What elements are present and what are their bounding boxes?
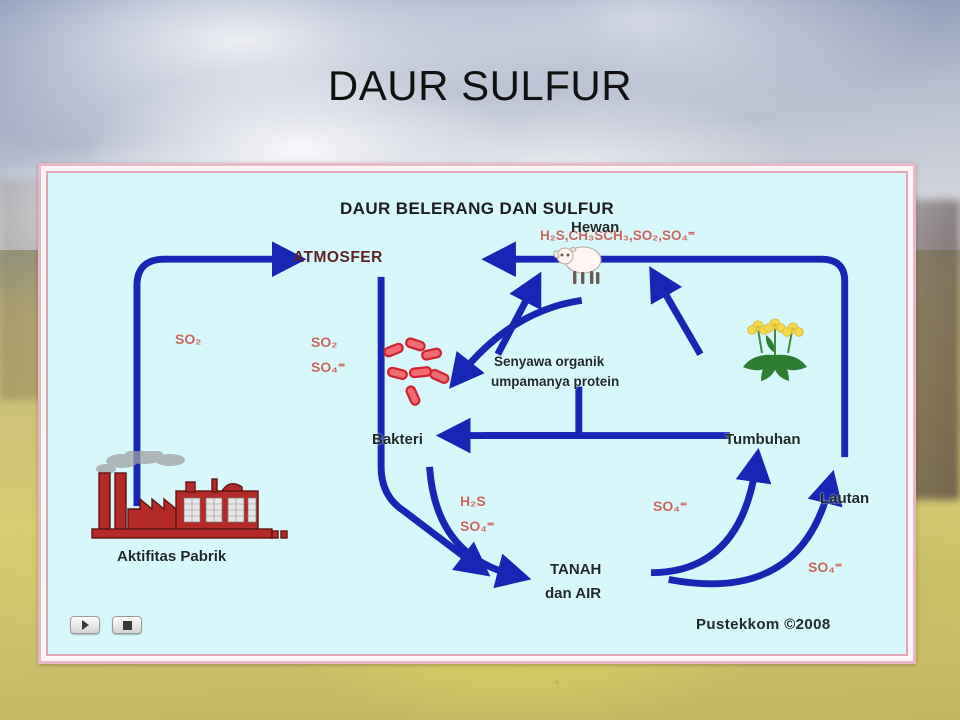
stop-button[interactable]: [112, 616, 142, 634]
node-senyawa-organik-line2: umpamanya protein: [491, 374, 619, 389]
chem-factory-so2: SO₂: [175, 331, 201, 347]
diagram-canvas: DAUR BELERANG DAN SULFUR: [46, 171, 908, 656]
chem-bacteria-so4: SO₄⁼: [311, 359, 345, 376]
node-bakteri: Bakteri: [372, 431, 423, 448]
play-button[interactable]: [70, 616, 100, 634]
chem-ocean-so4-low: SO₄⁼: [808, 559, 842, 576]
arrow-layer: [48, 173, 906, 654]
chem-soil-so4: SO₄⁼: [460, 518, 494, 535]
slide-title: DAUR SULFUR: [0, 62, 960, 110]
bacteria-illustration: [378, 336, 458, 414]
node-lautan: Lautan: [820, 490, 869, 507]
stop-icon: [123, 621, 132, 630]
sheep-illustration: [551, 239, 609, 289]
node-aktifitas-pabrik: Aktifitas Pabrik: [117, 548, 226, 565]
node-tanah-line1: TANAH: [550, 561, 601, 578]
credit-text: Pustekkom ©2008: [696, 616, 831, 633]
node-tumbuhan: Tumbuhan: [725, 431, 801, 448]
chem-ocean-so4-mid: SO₄⁼: [653, 498, 687, 515]
node-atmosfer: ATMOSFER: [293, 249, 383, 267]
node-senyawa-organik-line1: Senyawa organik: [494, 354, 604, 369]
play-icon: [82, 620, 89, 630]
chem-soil-h2s: H₂S: [460, 493, 486, 509]
node-tanah-line2: dan AIR: [545, 585, 601, 602]
factory-illustration: [82, 451, 297, 546]
diagram-frame: DAUR BELERANG DAN SULFUR: [38, 163, 916, 664]
arrow-soil-to-tumbuhan: [651, 467, 756, 573]
arrow-plant-to-hewan: [659, 283, 701, 355]
node-hewan: Hewan: [571, 219, 619, 236]
chem-bacteria-so2: SO₂: [311, 334, 337, 350]
plant-illustration: [736, 313, 814, 389]
